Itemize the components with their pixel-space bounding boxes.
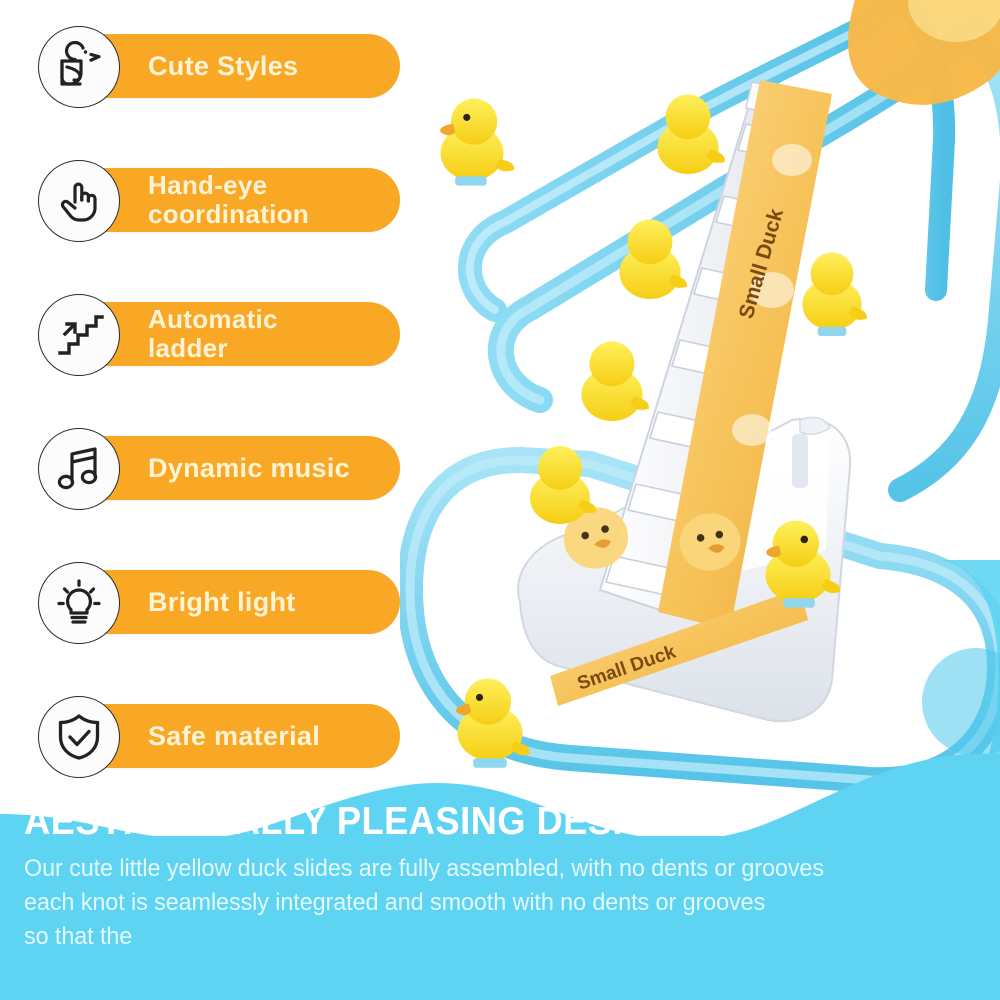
stairs-icon — [38, 294, 120, 376]
banner-heading: AESTHETICALLY PLEASING DESIGN — [24, 802, 917, 841]
feature-label: Dynamic music — [148, 453, 350, 483]
feature-item-bright-light[interactable]: Bright light — [0, 562, 420, 642]
feature-label: Hand-eye coordination — [148, 171, 309, 229]
feature-item-dynamic-music[interactable]: Dynamic music — [0, 428, 420, 508]
infographic-canvas: Small Duck Small Duck — [0, 0, 1000, 1000]
music-note-icon — [38, 428, 120, 510]
duck-icon — [38, 26, 120, 108]
feature-label: Automatic ladder — [148, 305, 278, 363]
lightbulb-icon — [38, 562, 120, 644]
feature-item-cute-styles[interactable]: Cute Styles — [0, 26, 420, 106]
hand-pointer-icon — [38, 160, 120, 242]
feature-label: Bright light — [148, 587, 296, 617]
bottom-banner: AESTHETICALLY PLEASING DESIGN Our cute l… — [0, 740, 1000, 1000]
feature-list: Cute Styles Hand-eye coordination — [0, 0, 420, 810]
feature-item-automatic-ladder[interactable]: Automatic ladder — [0, 294, 420, 374]
banner-body: AESTHETICALLY PLEASING DESIGN Our cute l… — [0, 836, 1000, 1000]
feature-label: Cute Styles — [148, 51, 298, 81]
feature-item-hand-eye[interactable]: Hand-eye coordination — [0, 160, 420, 240]
banner-paragraph: Our cute little yellow duck slides are f… — [24, 852, 941, 953]
